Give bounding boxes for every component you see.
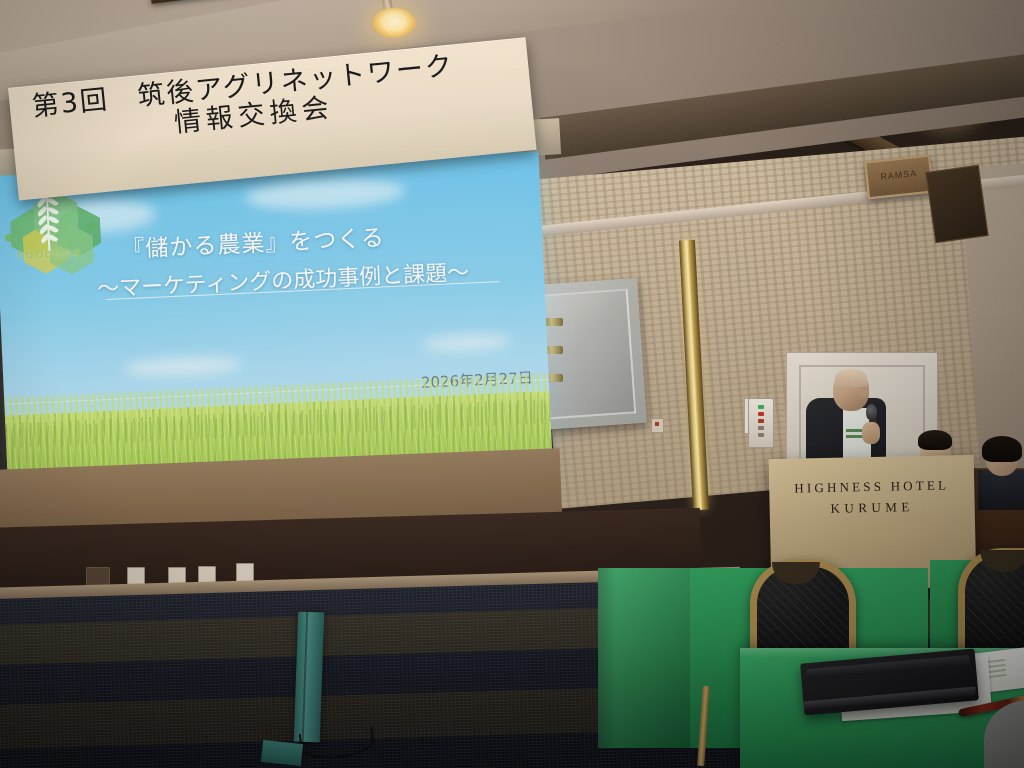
wall-speaker-ramsa: RAMSA <box>864 155 934 200</box>
cable-cover-strip <box>294 612 325 743</box>
wall-speaker-secondary <box>925 165 988 244</box>
presenter-hand <box>862 422 880 444</box>
foodbox-logo: FOODBOX <box>3 186 94 268</box>
hotel-name-line2: KURUME <box>770 498 975 518</box>
wall-outlet[interactable] <box>651 418 664 433</box>
cloud <box>422 333 513 353</box>
attendee-torso <box>978 470 1024 510</box>
cable-cover-end <box>261 740 303 766</box>
attendee-hair <box>982 436 1022 462</box>
ceiling-downlight <box>372 8 416 38</box>
presenter-ear <box>860 386 868 397</box>
hotel-name-line1: HIGHNESS HOTEL <box>769 477 974 497</box>
conference-room-photo: RAMSA <box>0 0 1024 768</box>
wall-control-panel[interactable] <box>748 398 774 448</box>
projection-screen: FOODBOX 『儲かる農業』をつくる 〜マーケティングの成功事例と課題〜 20… <box>0 151 553 491</box>
cloud <box>122 355 243 378</box>
hotel-name-sign: HIGHNESS HOTEL KURUME <box>769 477 975 518</box>
attendee-hair <box>918 430 952 450</box>
cloud <box>245 175 406 212</box>
tablecloth-drape <box>598 568 690 748</box>
wheat-stalk-icon <box>36 189 61 252</box>
speaker-brand-label: RAMSA <box>867 167 930 183</box>
